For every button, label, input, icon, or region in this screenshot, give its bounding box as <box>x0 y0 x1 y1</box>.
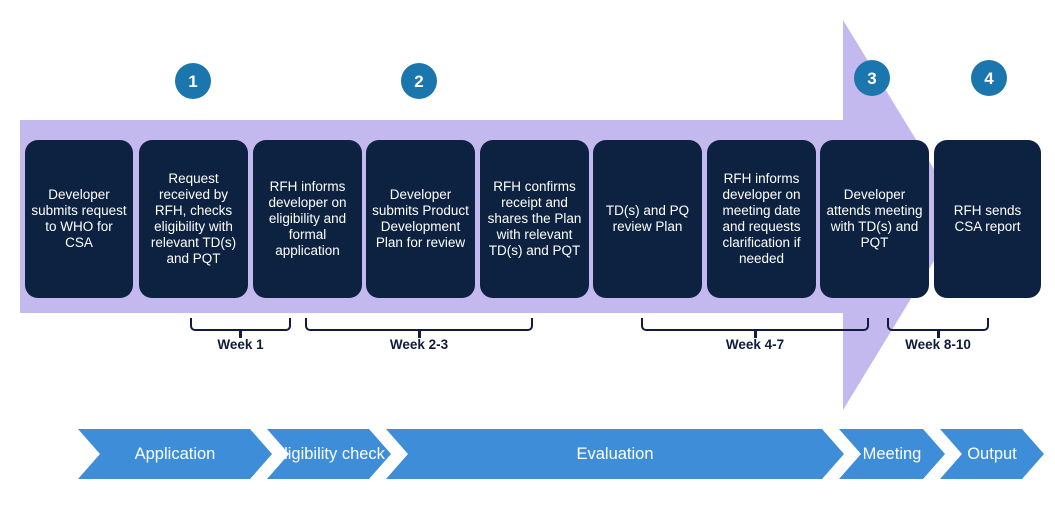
process-box-label: RFH informs developer on eligibility and… <box>259 179 356 259</box>
week-label-1: Week 1 <box>190 337 291 352</box>
process-box-label: RFH informs developer on meeting date an… <box>713 171 810 267</box>
step-circle-4: 4 <box>971 60 1007 96</box>
step-circle-1: 1 <box>175 63 211 99</box>
phase-label: Meeting <box>839 445 945 463</box>
phase-chevron-evaluation[interactable]: Evaluation <box>386 429 844 479</box>
process-box-label: Request received by RFH, checks eligibil… <box>145 171 242 267</box>
week-label-4: Week 8-10 <box>887 337 989 352</box>
week-bracket-3 <box>641 318 869 331</box>
process-box-label: RFH sends CSA report <box>940 203 1035 235</box>
process-box-label: RFH confirms receipt and shares the Plan… <box>486 179 583 259</box>
step-number-4: 4 <box>984 70 993 87</box>
process-box-label: Developer submits Product Development Pl… <box>372 187 469 251</box>
step-circle-2: 2 <box>401 63 437 99</box>
week-bracket-2 <box>305 318 533 331</box>
process-box-label: Developer submits request to WHO for CSA <box>31 187 127 251</box>
process-box-3: RFH informs developer on eligibility and… <box>253 140 362 298</box>
process-box-4: Developer submits Product Development Pl… <box>366 140 475 298</box>
phase-label: Output <box>940 445 1044 463</box>
process-box-5: RFH confirms receipt and shares the Plan… <box>480 140 589 298</box>
phase-chevron-meeting[interactable]: Meeting <box>839 429 945 479</box>
phase-label: Eligibility check <box>267 445 391 463</box>
process-box-label: Developer attends meeting with TD(s) and… <box>826 187 923 251</box>
process-box-7: RFH informs developer on meeting date an… <box>707 140 816 298</box>
step-number-1: 1 <box>188 73 197 90</box>
week-label-2: Week 2-3 <box>305 337 533 352</box>
phase-chevron-output[interactable]: Output <box>940 429 1044 479</box>
process-box-1: Developer submits request to WHO for CSA <box>25 140 133 298</box>
process-box-8: Developer attends meeting with TD(s) and… <box>820 140 929 298</box>
step-circle-3: 3 <box>854 60 890 96</box>
week-bracket-1 <box>190 318 291 331</box>
step-number-3: 3 <box>867 70 876 87</box>
phase-chevron-application[interactable]: Application <box>78 429 272 479</box>
phase-label: Application <box>78 445 272 463</box>
step-number-2: 2 <box>414 73 423 90</box>
phase-chevron-eligibility-check[interactable]: Eligibility check <box>267 429 391 479</box>
process-box-9: RFH sends CSA report <box>934 140 1041 298</box>
week-label-3: Week 4-7 <box>641 337 869 352</box>
process-box-6: TD(s) and PQ review Plan <box>593 140 702 298</box>
week-bracket-4 <box>887 318 989 331</box>
diagram-canvas: 1 2 3 4 Developer submits request to WHO… <box>0 0 1055 509</box>
process-box-label: TD(s) and PQ review Plan <box>599 203 696 235</box>
phase-label: Evaluation <box>386 445 844 463</box>
process-box-2: Request received by RFH, checks eligibil… <box>139 140 248 298</box>
